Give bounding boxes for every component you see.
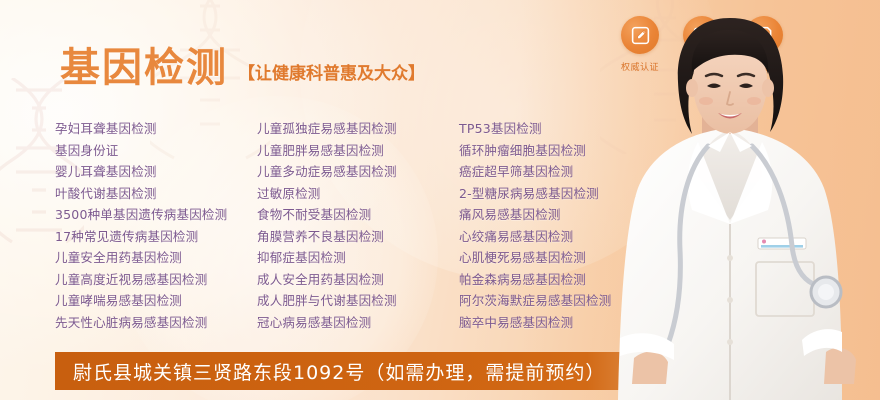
list-item: 心绞痛易感基因检测 [459,226,689,248]
test-item-columns: 孕妇耳聋基因检测 基因身份证 婴儿耳聋基因检测 叶酸代谢基因检测 3500种单基… [55,118,689,333]
list-item: 癌症超早筛基因检测 [459,161,689,183]
list-item: 2-型糖尿病易感基因检测 [459,183,689,205]
list-item: 痛风易感基因检测 [459,204,689,226]
list-item: 儿童高度近视易感基因检测 [55,269,257,291]
list-item: 食物不耐受基因检测 [257,204,459,226]
list-item: 17种常见遗传病基因检测 [55,226,257,248]
list-item: 基因身份证 [55,140,257,162]
list-item: 叶酸代谢基因检测 [55,183,257,205]
badge-label: 权威认证 [621,60,659,73]
address-banner: 尉氏县城关镇三贤路东段1092号（如需办理，需提前预约） [55,352,755,390]
list-item: 儿童孤独症易感基因检测 [257,118,459,140]
list-item: 帕金森病易感基因检测 [459,269,689,291]
badge-precise-typing[interactable]: 精准分型 [678,16,726,73]
test-column-3: TP53基因检测 循环肿瘤细胞基因检测 癌症超早筛基因检测 2-型糖尿病易感基因… [459,118,689,333]
badge-circle [683,16,721,54]
gene-testing-poster: 基因检测 【让健康科普惠及大众】 权威认证 [0,0,880,400]
list-item: 冠心病易感基因检测 [257,312,459,334]
address-banner-text: 尉氏县城关镇三贤路东段1092号（如需办理，需提前预约） [73,358,605,385]
sub-title: 【让健康科普惠及大众】 [238,66,425,88]
list-item: 儿童安全用药基因检测 [55,247,257,269]
list-item: 儿童肥胖易感基因检测 [257,140,459,162]
list-item: 脑卒中易感基因检测 [459,312,689,334]
list-item: 成人肥胖与代谢基因检测 [257,290,459,312]
list-item: 先天性心脏病易感基因检测 [55,312,257,334]
list-item: 3500种单基因遗传病基因检测 [55,204,257,226]
list-item: TP53基因检测 [459,118,689,140]
list-item: 抑郁症基因检测 [257,247,459,269]
list-item: 孕妇耳聋基因检测 [55,118,257,140]
badge-circle [745,16,783,54]
monitor-icon [692,25,713,46]
list-item: 儿童哮喘易感基因检测 [55,290,257,312]
document-icon [754,25,775,46]
main-title: 基因检测 [60,48,228,88]
badge-circle [621,16,659,54]
test-column-1: 孕妇耳聋基因检测 基因身份证 婴儿耳聋基因检测 叶酸代谢基因检测 3500种单基… [55,118,257,333]
badge-group: 权威认证 精准分型 [616,16,788,73]
badge-easy-self-check[interactable]: 轻松自检 [740,16,788,73]
list-item: 心肌梗死易感基因检测 [459,247,689,269]
list-item: 儿童多动症易感基因检测 [257,161,459,183]
badge-label: 轻松自检 [745,60,783,73]
page-title: 基因检测 【让健康科普惠及大众】 [60,48,425,88]
badge-label: 精准分型 [683,60,721,73]
list-item: 循环肿瘤细胞基因检测 [459,140,689,162]
test-column-2: 儿童孤独症易感基因检测 儿童肥胖易感基因检测 儿童多动症易感基因检测 过敏原检测… [257,118,459,333]
badge-authority-certification[interactable]: 权威认证 [616,16,664,73]
list-item: 过敏原检测 [257,183,459,205]
list-item: 角膜营养不良基因检测 [257,226,459,248]
list-item: 阿尔茨海默症易感基因检测 [459,290,689,312]
list-item: 成人安全用药基因检测 [257,269,459,291]
edit-pencil-icon [630,25,651,46]
list-item: 婴儿耳聋基因检测 [55,161,257,183]
